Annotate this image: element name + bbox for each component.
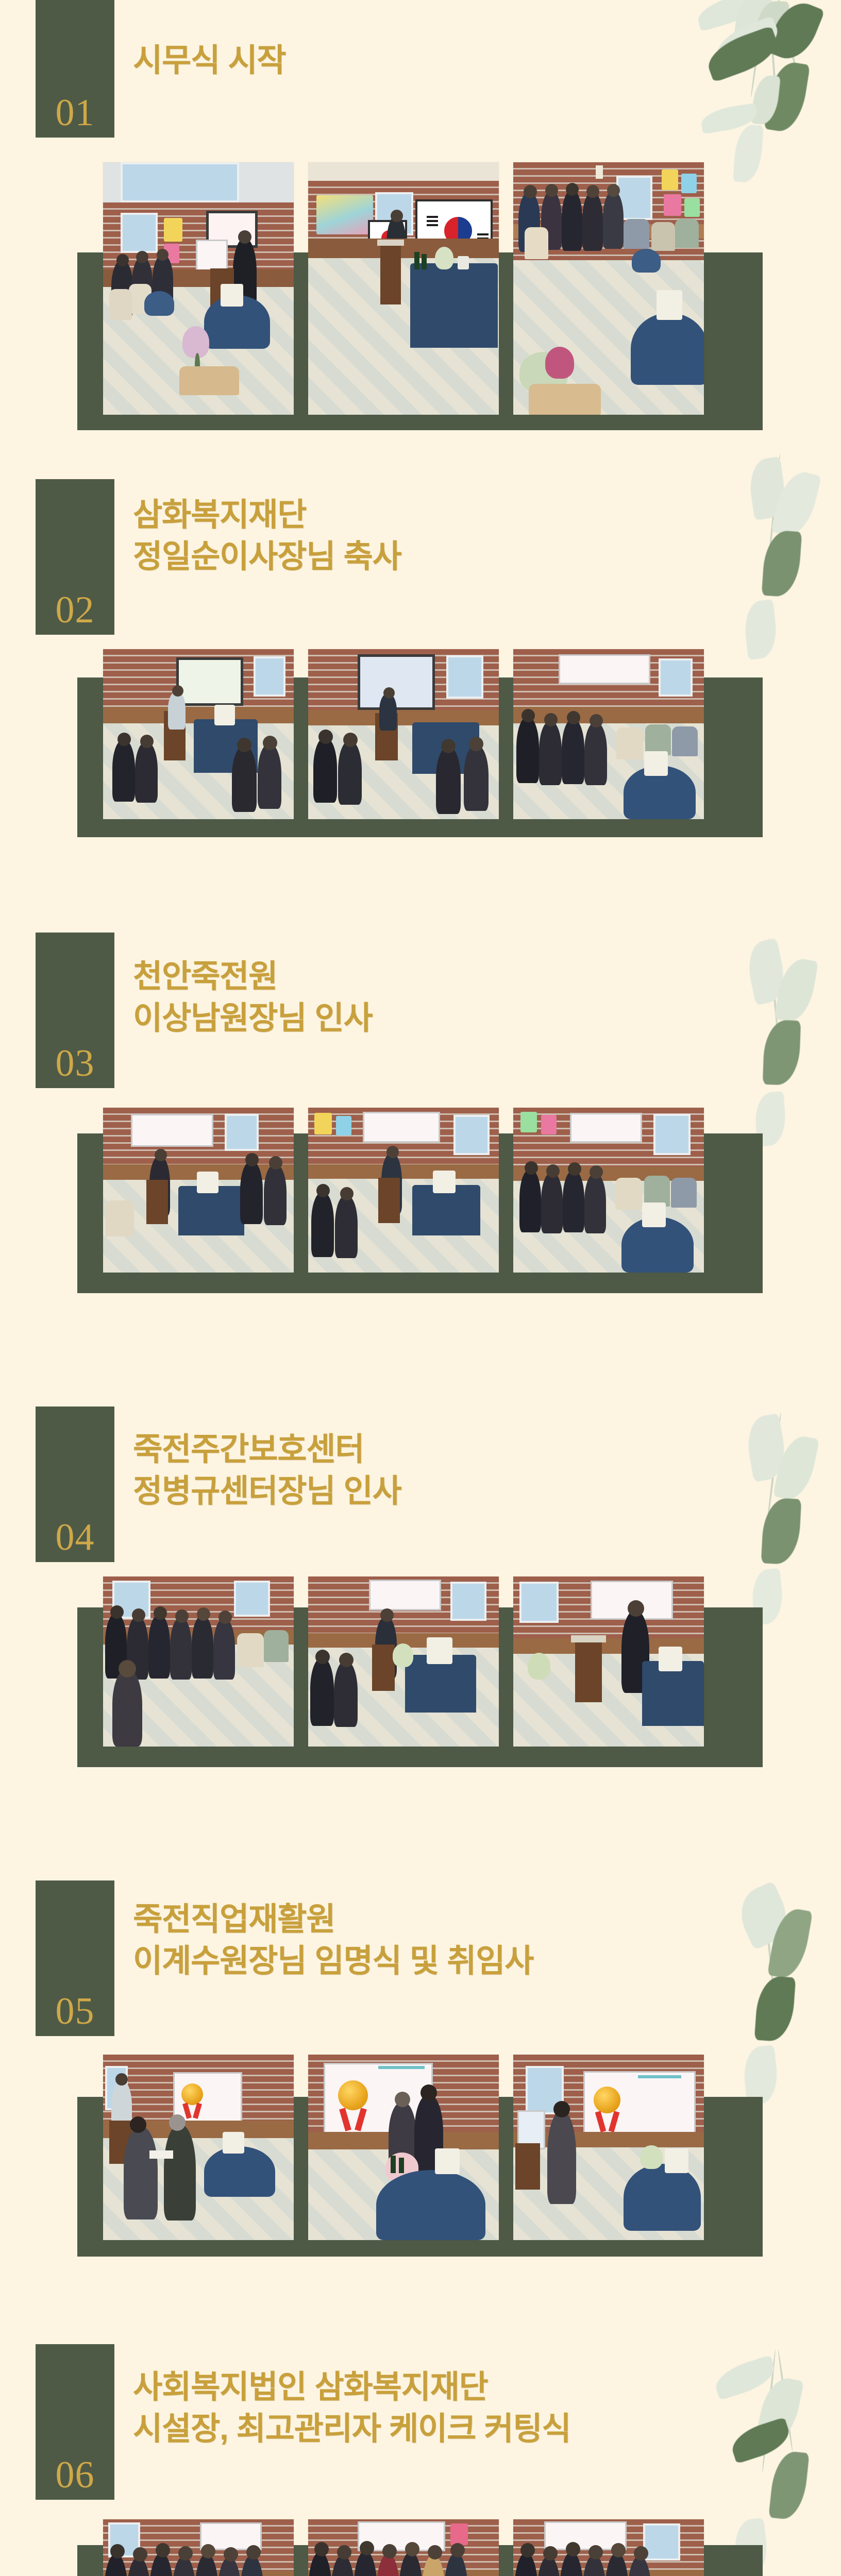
photo-item[interactable] <box>308 649 499 819</box>
section-number-06: 06 <box>56 2458 95 2493</box>
headline-line: 이상남원장님 인사 <box>133 998 373 1040</box>
section-number-05: 05 <box>56 1994 95 2029</box>
photo-item[interactable] <box>513 1577 704 1747</box>
section-headline-01: 시무식 시작 <box>133 40 285 82</box>
section-number-badge-04: 04 <box>36 1406 114 1562</box>
section-06: 06 사회복지법인 삼화복지재단 시설장, 최고관리자 케이크 커팅식 <box>0 2344 841 2576</box>
section-04: 04 죽전주간보호센터 정병규센터장님 인사 <box>0 1406 841 1839</box>
photo-item[interactable] <box>513 2519 704 2576</box>
photo-row-01 <box>103 162 704 415</box>
section-number-02: 02 <box>56 592 95 628</box>
headline-line: 삼화복지재단 <box>133 495 401 536</box>
photo-row-03 <box>103 1108 704 1273</box>
photo-item[interactable] <box>513 162 704 415</box>
poster-canvas: 01 시무식 시작 <box>0 0 841 2576</box>
section-headline-05: 죽전직업재활원 이계수원장님 임명식 및 취임사 <box>133 1899 533 1982</box>
photo-item[interactable] <box>103 162 294 415</box>
section-number-badge-06: 06 <box>36 2344 114 2500</box>
section-number-badge-01: 01 <box>36 0 114 138</box>
headline-line: 정병규센터장님 인사 <box>133 1471 401 1513</box>
headline-line: 천안죽전원 <box>133 956 373 998</box>
photo-item[interactable] <box>103 1577 294 1747</box>
section-02: 02 삼화복지재단 정일순이사장님 축사 <box>0 479 841 907</box>
photo-item[interactable] <box>308 1577 499 1747</box>
photo-item[interactable] <box>103 649 294 819</box>
photo-item[interactable] <box>103 1108 294 1273</box>
headline-line: 시무식 시작 <box>133 40 285 82</box>
headline-line: 사회복지법인 삼화복지재단 <box>133 2367 570 2409</box>
photo-item[interactable] <box>308 1108 499 1273</box>
section-headline-03: 천안죽전원 이상남원장님 인사 <box>133 956 373 1039</box>
headline-line: 이계수원장님 임명식 및 취임사 <box>133 1941 533 1982</box>
section-number-04: 04 <box>56 1520 95 1555</box>
section-headline-06: 사회복지법인 삼화복지재단 시설장, 최고관리자 케이크 커팅식 <box>133 2367 570 2450</box>
section-number-01: 01 <box>56 95 95 130</box>
photo-item[interactable] <box>513 2055 704 2240</box>
headline-line: 죽전직업재활원 <box>133 1899 533 1941</box>
photo-item[interactable] <box>103 2055 294 2240</box>
section-number-badge-03: 03 <box>36 933 114 1088</box>
headline-line: 정일순이사장님 축사 <box>133 536 401 578</box>
photo-item[interactable] <box>308 2519 499 2576</box>
section-headline-04: 죽전주간보호센터 정병규센터장님 인사 <box>133 1429 401 1512</box>
photo-row-05 <box>103 2055 704 2240</box>
photo-item[interactable] <box>513 649 704 819</box>
headline-line: 죽전주간보호센터 <box>133 1429 401 1471</box>
section-number-badge-02: 02 <box>36 479 114 635</box>
photo-row-02 <box>103 649 704 819</box>
photo-row-04 <box>103 1577 704 1747</box>
section-03: 03 천안죽전원 이상남원장님 인사 <box>0 933 841 1360</box>
section-number-03: 03 <box>56 1046 95 1081</box>
section-number-badge-05: 05 <box>36 1880 114 2036</box>
section-05: 05 죽전직업재활원 이계수원장님 임명식 및 취임사 <box>0 1880 841 2324</box>
photo-item[interactable] <box>308 162 499 415</box>
section-headline-02: 삼화복지재단 정일순이사장님 축사 <box>133 495 401 578</box>
photo-item[interactable] <box>308 2055 499 2240</box>
photo-item[interactable] <box>513 1108 704 1273</box>
section-01: 01 시무식 시작 <box>0 0 841 464</box>
photo-row-06 <box>103 2519 704 2576</box>
photo-item[interactable] <box>103 2519 294 2576</box>
headline-line: 시설장, 최고관리자 케이크 커팅식 <box>133 2409 570 2450</box>
